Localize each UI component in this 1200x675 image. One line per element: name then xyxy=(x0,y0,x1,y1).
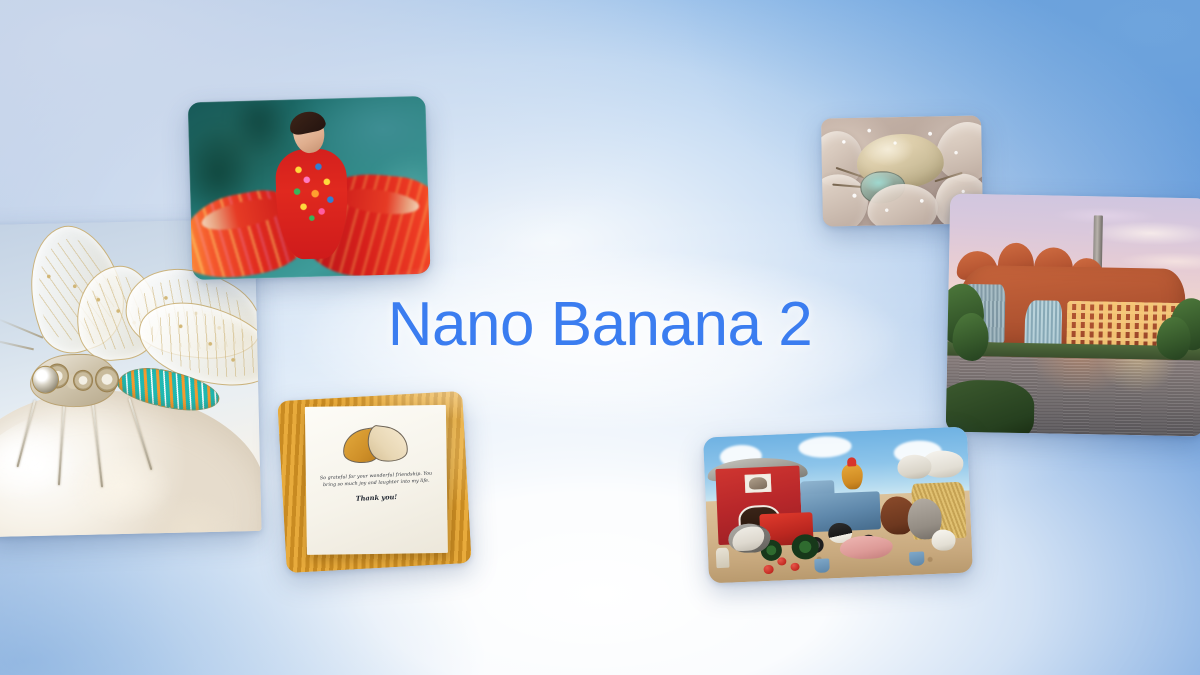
duck xyxy=(932,529,957,550)
hands-heart-icon xyxy=(342,422,409,468)
paper-card: So grateful for your wonderful friendshi… xyxy=(305,405,448,555)
floral-embroidery xyxy=(287,157,339,222)
hero-title-container: Nano Banana 2 xyxy=(0,292,1200,357)
greeting-card-message: So grateful for your wonderful friendshi… xyxy=(319,471,434,491)
greeting-card-signoff: Thank you! xyxy=(319,491,434,504)
farm-image xyxy=(703,427,973,584)
apple-3 xyxy=(764,565,774,574)
gallery-card-dancer[interactable] xyxy=(188,96,431,281)
gallery-card-farm[interactable] xyxy=(703,427,973,584)
page-title: Nano Banana 2 xyxy=(0,292,1200,357)
goat xyxy=(897,454,932,479)
tractor-wheel-rear xyxy=(792,534,819,560)
greeting-card-image: So grateful for your wonderful friendshi… xyxy=(277,391,471,573)
bucket-1 xyxy=(814,558,830,573)
hero-stage: So grateful for your wonderful friendshi… xyxy=(0,0,1200,675)
dancer-image xyxy=(188,96,431,281)
barn-window xyxy=(744,474,771,493)
gallery-card-greeting[interactable]: So grateful for your wonderful friendshi… xyxy=(277,391,471,573)
milk-can xyxy=(716,548,730,569)
